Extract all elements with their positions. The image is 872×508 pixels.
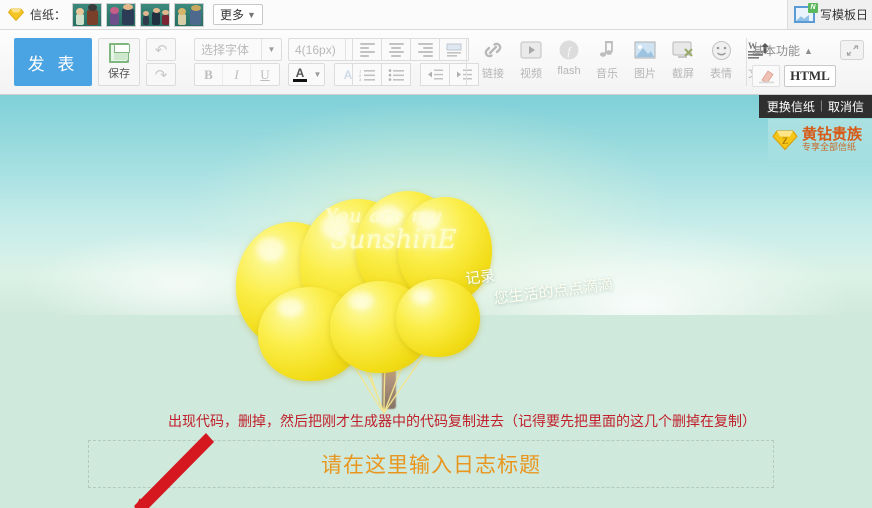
template-new-badge: N [808, 3, 818, 13]
text-wrap-icon[interactable] [439, 38, 469, 61]
redo-icon[interactable]: ↷ [146, 63, 176, 86]
save-disk-icon [109, 43, 129, 63]
stationery-bar: 信纸： [0, 0, 872, 30]
text-format-group: B I U [194, 63, 280, 86]
svg-text:Z: Z [782, 136, 788, 146]
editor-canvas[interactable]: You are my SunshinE 记录 您生活的点点滴滴 更换信纸 | 取… [0, 95, 872, 508]
text-color-label: A [296, 68, 305, 79]
change-stationery-link[interactable]: 更换信纸 [767, 98, 815, 115]
stationery-label: 信纸： [30, 6, 66, 23]
stationery-thumb-2[interactable] [106, 3, 136, 27]
emoji-icon [708, 37, 734, 63]
screenshot-icon [670, 37, 696, 63]
align-group [352, 38, 468, 61]
align-left-icon[interactable] [352, 38, 382, 61]
italic-button[interactable]: I [223, 64, 251, 85]
save-button-label: 保存 [108, 65, 130, 81]
chevron-down-icon: ▼ [247, 10, 256, 20]
vip-badge[interactable]: Z 黄钻贵族 专享全部信纸 [768, 119, 872, 161]
template-image-icon: N [794, 6, 815, 23]
expand-icon[interactable] [840, 40, 864, 60]
editor-toolbar: 发 表 保存 ↶ ↷ 选择字体 ▼ 4(16px) ▼ B I U A ▼ A [0, 30, 872, 95]
app-root: 信纸： [0, 0, 872, 508]
text-color-button[interactable]: A [289, 64, 311, 85]
insert-video-label: 视频 [520, 65, 542, 81]
more-stationery-label: 更多 [220, 6, 244, 23]
basic-functions-label: 基本功能 [752, 42, 800, 59]
html-source-button[interactable]: HTML [784, 65, 836, 87]
align-right-icon[interactable] [410, 38, 440, 61]
outdent-icon[interactable] [420, 63, 450, 86]
save-button[interactable]: 保存 [98, 38, 140, 86]
insert-image-button[interactable]: 图片 [626, 37, 664, 87]
bold-button[interactable]: B [195, 64, 223, 85]
insert-flash-button[interactable]: f flash [550, 37, 588, 87]
chevron-down-icon[interactable]: ▼ [311, 70, 324, 79]
toolbar-divider-1 [466, 38, 467, 86]
cancel-stationery-link[interactable]: 取消信 [828, 98, 864, 115]
align-center-icon[interactable] [381, 38, 411, 61]
insert-screenshot-label: 截屏 [672, 65, 694, 81]
insert-link-button[interactable]: 链接 [474, 37, 512, 87]
font-family-value: 选择字体 [195, 41, 261, 58]
chevron-up-icon: ▲ [804, 46, 813, 56]
insert-music-button[interactable]: 音乐 [588, 37, 626, 87]
toolbar-divider-2 [746, 38, 747, 86]
red-arrow-icon [90, 430, 220, 508]
list-group: 1 2 3 [352, 63, 478, 86]
vip-subtitle: 专享全部信纸 [802, 143, 862, 152]
insert-emoji-label: 表情 [710, 65, 732, 81]
insert-screenshot-button[interactable]: 截屏 [664, 37, 702, 87]
insert-image-label: 图片 [634, 65, 656, 81]
insert-emoji-button[interactable]: 表情 [702, 37, 740, 87]
undo-icon[interactable]: ↶ [146, 38, 176, 61]
text-color-group: A ▼ [288, 63, 325, 86]
insert-flash-label: flash [557, 65, 580, 77]
font-family-select[interactable]: 选择字体 ▼ [194, 38, 282, 61]
link-icon [480, 37, 506, 63]
red-annotation-text: 出现代码，删掉，然后把刚才生成器中的代码复制进去（记得要先把里面的这几个删掉在复… [168, 411, 756, 431]
flash-icon: f [556, 37, 582, 63]
more-stationery-button[interactable]: 更多 ▼ [213, 4, 263, 25]
ordered-list-icon[interactable]: 1 2 3 [352, 63, 382, 86]
yellow-diamond-icon: Z [772, 129, 798, 151]
insert-link-label: 链接 [482, 65, 504, 81]
svg-text:3: 3 [359, 77, 362, 81]
video-icon [518, 37, 544, 63]
font-size-value: 4(16px) [289, 43, 345, 57]
image-icon [632, 37, 658, 63]
stationery-thumb-1[interactable] [72, 3, 102, 27]
stationery-thumb-4[interactable] [174, 3, 204, 27]
diary-title-placeholder: 请在这里输入日志标题 [321, 449, 541, 479]
vip-text: 黄钻贵族 专享全部信纸 [802, 127, 862, 152]
stationery-thumb-list [72, 3, 204, 27]
stationery-separator: | [820, 98, 823, 115]
insert-video-button[interactable]: 视频 [512, 37, 550, 87]
basic-functions-toggle[interactable]: 基本功能 ▲ [752, 42, 813, 59]
chevron-down-icon: ▼ [261, 39, 281, 60]
publish-button[interactable]: 发 表 [14, 38, 92, 86]
write-template-button[interactable]: N 写模板日 [787, 0, 872, 29]
unordered-list-icon[interactable] [381, 63, 411, 86]
write-template-label: 写模板日 [820, 6, 868, 23]
insert-music-label: 音乐 [596, 65, 618, 81]
yellow-diamond-icon [8, 8, 24, 21]
music-icon [594, 37, 620, 63]
underline-button[interactable]: U [251, 64, 279, 85]
stationery-thumb-3[interactable] [140, 3, 170, 27]
vip-title: 黄钻贵族 [802, 127, 862, 143]
stationery-controls: 更换信纸 | 取消信 [759, 95, 872, 118]
eraser-icon[interactable] [752, 65, 780, 87]
text-color-swatch [293, 79, 307, 82]
